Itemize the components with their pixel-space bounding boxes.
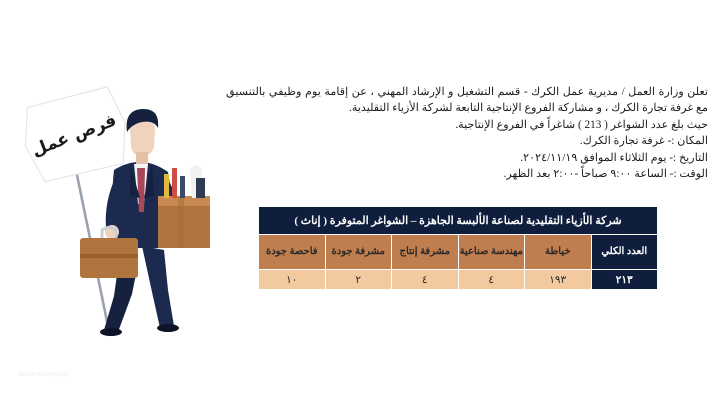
time-line: الوقت :- الساعة ٩:٠٠ صباحاً -٢:٠٠ بعد ال…	[226, 166, 708, 182]
job-seeker-illustration: فرص عمل	[18, 78, 228, 338]
cell-industrial-engineer: ٤	[458, 270, 525, 290]
vacancies-suffix: ) شاغراً في الفروع الإنتاجية.	[455, 119, 584, 131]
table-header-row: العدد الكلي خياطة مهندسة صناعية مشرفة إن…	[259, 235, 658, 270]
announcement-intro: تعلن وزارة العمل / مديرية عمل الكرك - قس…	[226, 84, 708, 117]
job-day-poster: فرص عمل	[0, 0, 720, 405]
table-row: ٢١٣ ١٩٣ ٤ ٤ ٢ ١٠	[259, 270, 658, 290]
sign-board: فرص عمل	[18, 85, 132, 184]
column-header-quality-supervisor: مشرفة جودة	[325, 235, 392, 270]
date-line: التاريخ :- يوم الثلاثاء الموافق ٢٠٢٤/١١/…	[226, 150, 708, 166]
cell-total: ٢١٣	[591, 270, 658, 290]
date-value: يوم الثلاثاء الموافق ٢٠٢٤/١١/١٩.	[520, 152, 666, 164]
column-header-seamstress: خياطة	[525, 235, 592, 270]
announcement-vacancies-line: حيث بلغ عدد الشواغر ( 213 ) شاغراً في ال…	[226, 117, 708, 133]
table-title-row: شركة الأزياء التقليدية لصناعة الألبسة ال…	[259, 207, 658, 235]
watermark-text: @dlalaKhldaMyzz	[18, 372, 69, 378]
cell-production-supervisor: ٤	[392, 270, 459, 290]
time-label: الوقت :-	[670, 168, 708, 180]
vacancies-table-container: شركة الأزياء التقليدية لصناعة الألبسة ال…	[258, 206, 658, 290]
table-title: شركة الأزياء التقليدية لصناعة الألبسة ال…	[259, 207, 658, 235]
vacancies-table: شركة الأزياء التقليدية لصناعة الألبسة ال…	[258, 206, 658, 290]
announcement-text: تعلن وزارة العمل / مديرية عمل الكرك - قس…	[226, 84, 708, 182]
place-label: المكان :-	[668, 135, 708, 147]
cell-seamstress: ١٩٣	[525, 270, 592, 290]
cardboard-box	[158, 165, 210, 248]
column-header-quality-inspector: فاحصة جودة	[259, 235, 326, 270]
vacancies-count: 213	[585, 117, 602, 133]
column-header-total: العدد الكلي	[591, 235, 658, 270]
time-value: الساعة ٩:٠٠ صباحاً -٢:٠٠ بعد الظهر.	[504, 168, 667, 180]
cell-quality-supervisor: ٢	[325, 270, 392, 290]
date-label: التاريخ :-	[669, 152, 708, 164]
vacancies-prefix: حيث بلغ عدد الشواغر (	[601, 119, 708, 131]
column-header-industrial-engineer: مهندسة صناعية	[458, 235, 525, 270]
place-line: المكان :- غرفة تجارة الكرك.	[226, 133, 708, 149]
place-value: غرفة تجارة الكرك.	[580, 135, 665, 147]
column-header-production-supervisor: مشرفة إنتاج	[392, 235, 459, 270]
cell-quality-inspector: ١٠	[259, 270, 326, 290]
